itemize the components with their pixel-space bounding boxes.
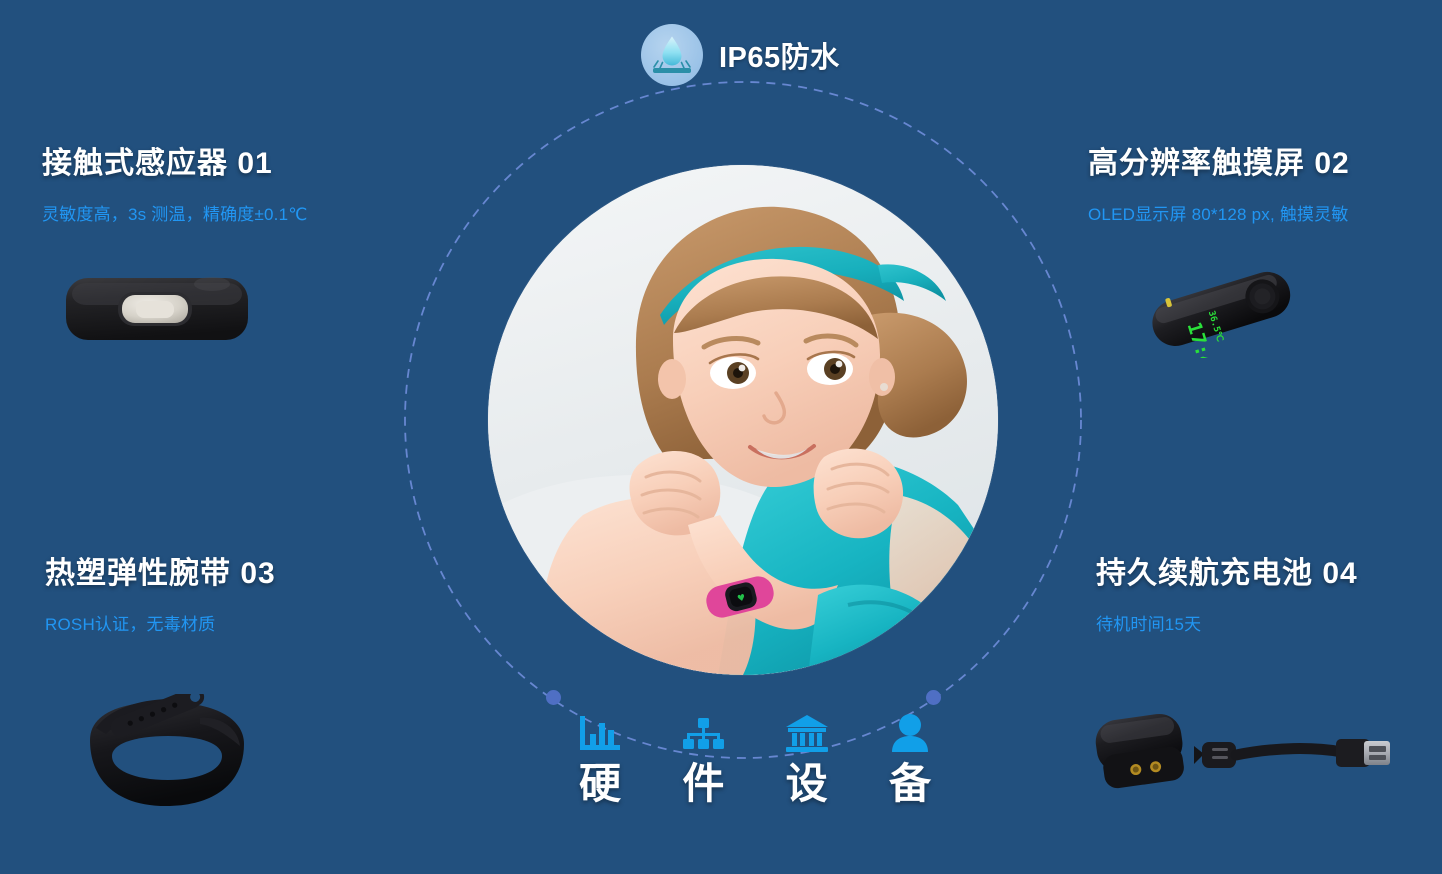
center-baby-photo: ♥ 24H monitoring	[488, 165, 998, 675]
ip65-badge: IP65防水	[641, 24, 840, 86]
hardware-word: 硬 件 设 备	[570, 762, 940, 806]
feature-title-03: 热塑弹性腕带 03	[45, 548, 276, 592]
hardware-device-row: 硬 件 设 备	[570, 708, 940, 806]
feature-subtitle-01: 灵敏度高，3s 测温，精确度±0.1℃	[42, 200, 308, 225]
feature-title-01: 接触式感应器 01	[42, 138, 308, 182]
feature-title-02: 高分辨率触摸屏 02	[1088, 138, 1350, 182]
feature-block-03: 热塑弹性腕带 03 ROSH认证，无毒材质	[45, 548, 276, 635]
feature-block-04: 持久续航充电池 04 待机时间15天	[1096, 548, 1358, 635]
wrist-strap-illustration	[68, 694, 268, 824]
charger-illustration	[1086, 706, 1396, 812]
feature-subtitle-03: ROSH认证，无毒材质	[45, 610, 276, 635]
hardware-char-3: 设	[779, 762, 835, 806]
temperature-sensor-module-photo	[62, 262, 252, 352]
feature-subtitle-04: 待机时间15天	[1096, 610, 1358, 635]
hardware-char-4: 备	[882, 762, 938, 806]
infographic-stage: IP65防水	[0, 0, 1442, 874]
feature-title-04: 持久续航充电池 04	[1096, 548, 1358, 592]
bank-building-icon[interactable]	[783, 710, 831, 754]
feature-subtitle-02: OLED显示屏 80*128 px, 触摸灵敏	[1088, 200, 1350, 225]
oled-display-capsule-photo: 17:47 36.5℃	[1136, 258, 1306, 358]
ip65-label: IP65防水	[719, 34, 840, 76]
feature-block-02: 高分辨率触摸屏 02 OLED显示屏 80*128 px, 触摸灵敏	[1088, 138, 1350, 225]
hardware-icon-group	[570, 708, 940, 754]
hardware-char-1: 硬	[572, 762, 628, 806]
usb-charging-dock-photo	[1086, 706, 1396, 812]
hardware-char-2: 件	[675, 762, 731, 806]
person-icon[interactable]	[886, 710, 934, 754]
org-hierarchy-icon[interactable]	[679, 710, 727, 754]
bar-chart-icon[interactable]	[576, 710, 624, 754]
water-surface-bar	[653, 68, 691, 73]
oled-capsule-illustration: 17:47 36.5℃	[1136, 258, 1306, 358]
sensor-module-illustration	[62, 262, 252, 352]
water-drop-icon	[641, 24, 703, 86]
ring-endpoint-dot-left	[546, 690, 561, 705]
silicone-wrist-strap-photo	[68, 694, 268, 824]
ring-endpoint-dot-right	[926, 690, 941, 705]
baby-photo-illustration: ♥	[488, 165, 998, 675]
feature-block-01: 接触式感应器 01 灵敏度高，3s 测温，精确度±0.1℃	[42, 138, 308, 225]
